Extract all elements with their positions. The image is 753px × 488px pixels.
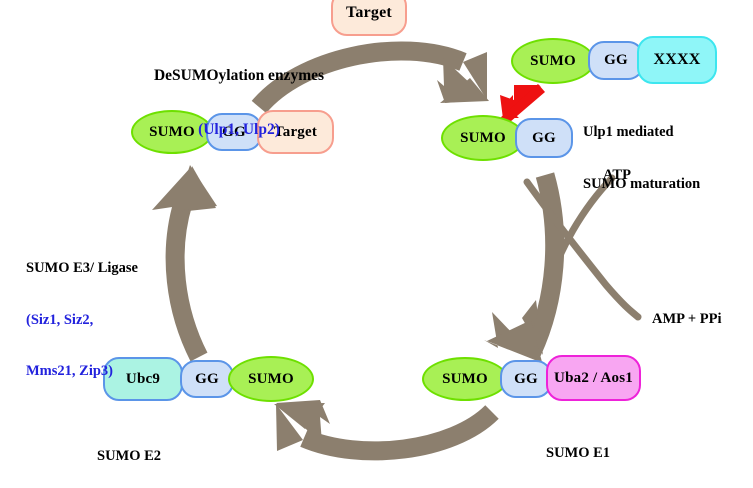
label-desumoylation-enzymes: DeSUMOylation enzymes (Ulp1, Ulp2) xyxy=(114,30,364,176)
label-amp-ppi: AMP + PPi xyxy=(652,311,721,328)
ulp1-cleavage-red-arrow xyxy=(500,84,545,122)
label-maturation-line1: Ulp1 mediated xyxy=(583,124,753,141)
label-e3-line2: (Siz1, Siz2, xyxy=(26,312,216,329)
label-e2-line1: SUMO E2 xyxy=(97,448,317,465)
node-gg-mature: GG xyxy=(515,118,573,158)
label-atp: ATP xyxy=(603,167,631,184)
node-sumo-mature: SUMO xyxy=(441,115,525,161)
node-gg-e1: GG xyxy=(500,360,552,398)
sumoylation-cycle-diagram: Target SUMO GG Target SUMO GG XXXX SUMO … xyxy=(0,0,753,488)
label-ulp1-maturation: Ulp1 mediated SUMO maturation xyxy=(583,90,753,227)
label-sumo-e1: SUMO E1 (Activating enzyme) xyxy=(546,411,746,488)
node-gg-precursor: GG xyxy=(588,41,644,80)
label-e3-line3: Mms21, Zip3) xyxy=(26,363,216,380)
label-desumoylation-line1: DeSUMOylation enzymes xyxy=(114,67,364,85)
right-arrow-activation xyxy=(484,175,555,362)
node-sumo-precursor: SUMO xyxy=(511,38,595,84)
label-desumoylation-line2: (Ulp1, Ulp2) xyxy=(114,121,364,139)
label-sumo-e2: SUMO E2 (Conjugating enzyme) xyxy=(97,414,317,488)
label-e3-line1: SUMO E3/ Ligase xyxy=(26,260,216,277)
label-e1-line1: SUMO E1 xyxy=(546,445,746,462)
label-sumo-e3-ligase: SUMO E3/ Ligase (Siz1, Siz2, Mms21, Zip3… xyxy=(26,226,216,414)
node-uba2-aos1: Uba2 / Aos1 xyxy=(546,355,641,401)
node-xxxx-propeptide: XXXX xyxy=(637,36,717,84)
node-sumo-e2: SUMO xyxy=(228,356,314,402)
node-sumo-e1: SUMO xyxy=(422,357,508,401)
